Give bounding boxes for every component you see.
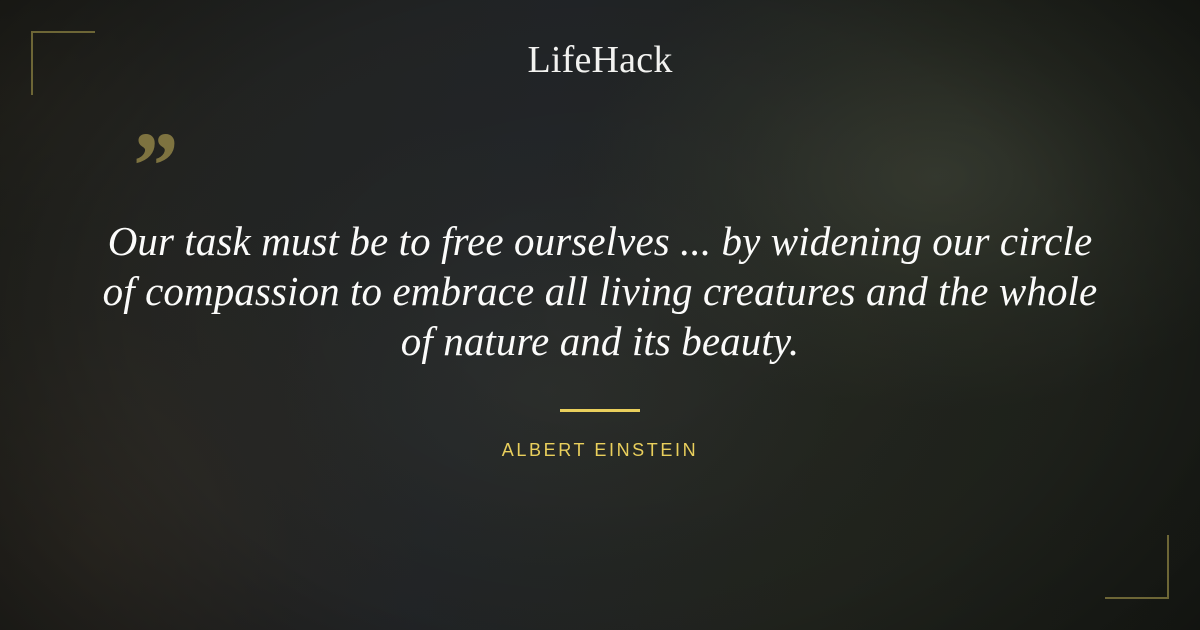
corner-bracket-bottom-right-icon xyxy=(1105,535,1169,599)
quote-text: Our task must be to free ourselves ... b… xyxy=(0,216,1200,366)
quote-author: ALBERT EINSTEIN xyxy=(0,438,1200,462)
brand-logo: LifeHack xyxy=(0,38,1200,82)
quote-mark-icon: ” xyxy=(128,118,176,214)
quote-line: of compassion to embrace all living crea… xyxy=(0,266,1200,316)
quote-card: LifeHack ” Our task must be to free ours… xyxy=(0,0,1200,630)
divider-rule xyxy=(560,409,640,412)
quote-line: of nature and its beauty. xyxy=(0,316,1200,366)
quote-line: Our task must be to free ourselves ... b… xyxy=(0,216,1200,266)
